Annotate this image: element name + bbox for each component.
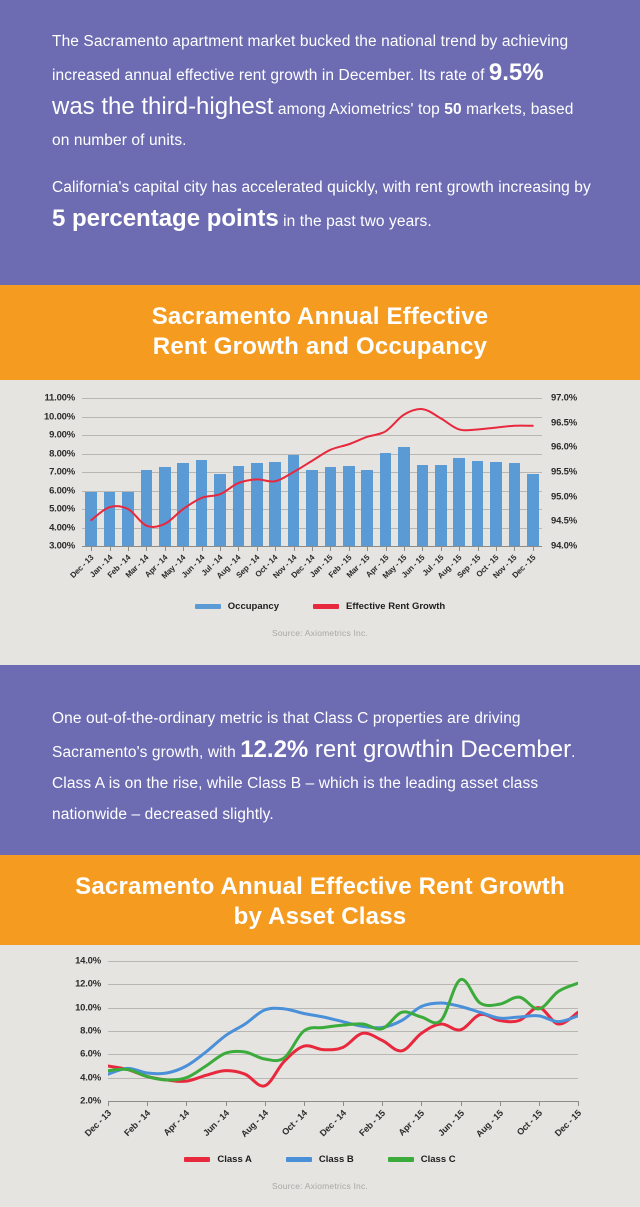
x-axis-tick: [220, 546, 221, 551]
x-axis-tick-label: Oct - 14: [280, 1108, 309, 1137]
x-axis-tick-label: Dec - 14: [318, 1108, 348, 1138]
intro-p2-part-b: in the past two years.: [279, 213, 432, 230]
x-axis-tick-label: Oct - 15: [515, 1108, 544, 1137]
intro-p1-part-b: was the third-highest: [52, 93, 273, 120]
x-axis-tick: [147, 1101, 148, 1106]
chart2-title-line1: Sacramento Annual Effective Rent Growth: [20, 872, 620, 902]
legend-swatch: [388, 1157, 414, 1162]
infographic-page: The Sacramento apartment market bucked t…: [0, 0, 640, 1207]
x-axis-tick: [265, 1101, 266, 1106]
chart2-plot-area: 2.0%4.0%6.0%8.0%10.0%12.0%14.0%: [108, 961, 578, 1101]
x-axis-tick: [441, 546, 442, 551]
chart1-header-banner: Sacramento Annual Effective Rent Growth …: [0, 285, 640, 380]
mid-part-b: rent growth: [308, 736, 435, 763]
y-axis-tick-label: 95.0%: [551, 491, 577, 502]
x-axis-tick: [226, 1101, 227, 1106]
y-axis-tick-label: 12.0%: [75, 979, 101, 990]
x-axis-tick: [202, 546, 203, 551]
legend-swatch: [184, 1157, 210, 1162]
x-axis-tick: [478, 546, 479, 551]
y-axis-tick-label: 94.0%: [551, 541, 577, 552]
x-axis-tick: [367, 546, 368, 551]
x-axis-tick-label: Jun - 14: [201, 1108, 231, 1138]
legend-swatch: [195, 604, 221, 609]
y-axis-tick-label: 8.00%: [49, 448, 75, 459]
y-axis-tick-label: 4.00%: [49, 522, 75, 533]
x-axis-tick-label: Aug - 15: [474, 1108, 505, 1139]
x-axis-tick-label: Apr - 14: [162, 1108, 192, 1138]
x-axis-tick-label: Feb - 15: [357, 1108, 387, 1138]
x-axis-tick: [183, 546, 184, 551]
chart2-legend: Class AClass BClass C: [0, 1154, 640, 1165]
x-axis-tick: [165, 546, 166, 551]
line-series-class-b: [108, 1003, 578, 1074]
legend-item: Occupancy: [195, 601, 279, 612]
mid-paragraph: One out-of-the-ordinary metric is that C…: [52, 703, 592, 830]
x-axis-tick-label: Apr - 15: [397, 1108, 427, 1138]
x-axis-tick: [421, 1101, 422, 1106]
chart2-panel: 2.0%4.0%6.0%8.0%10.0%12.0%14.0% Dec - 13…: [0, 945, 640, 1207]
x-axis-tick: [500, 1101, 501, 1106]
x-axis-tick: [404, 546, 405, 551]
x-axis-tick-label: Dec - 13: [83, 1108, 113, 1138]
mid-stat-class-c: 12.2%: [240, 736, 308, 763]
mid-text-block: One out-of-the-ordinary metric is that C…: [0, 665, 640, 855]
y-axis-tick-label: 9.00%: [49, 430, 75, 441]
legend-swatch: [286, 1157, 312, 1162]
chart1-source: Source: Axiometrics Inc.: [0, 628, 640, 638]
intro-stat-rent-growth: 9.5%: [489, 59, 544, 86]
y-axis-tick-label: 96.5%: [551, 417, 577, 428]
x-axis-tick-label: Feb - 14: [122, 1108, 152, 1138]
y-axis-tick-label: 95.5%: [551, 467, 577, 478]
y-axis-tick-label: 6.0%: [80, 1049, 101, 1060]
y-axis-tick-label: 2.0%: [80, 1096, 101, 1107]
x-axis-tick: [275, 546, 276, 551]
legend-label: Effective Rent Growth: [346, 601, 445, 612]
x-axis-tick: [386, 546, 387, 551]
x-axis-tick: [146, 546, 147, 551]
intro-p1-part-c: among Axiometrics' top: [273, 101, 444, 118]
intro-stat-markets: 50: [444, 101, 461, 118]
legend-label: Class C: [421, 1154, 456, 1165]
legend-label: Occupancy: [228, 601, 279, 612]
x-axis-tick-label: Aug - 14: [239, 1108, 270, 1139]
x-axis-tick: [257, 546, 258, 551]
y-axis-tick-label: 10.00%: [44, 411, 75, 422]
x-axis-tick: [533, 546, 534, 551]
x-axis-tick-label: Dec - 15: [553, 1108, 583, 1138]
chart1-panel: 3.00%4.00%5.00%6.00%7.00%8.00%9.00%10.00…: [0, 380, 640, 665]
y-axis-tick-label: 94.5%: [551, 516, 577, 527]
mid-part-c: in December: [435, 736, 571, 763]
legend-label: Class A: [217, 1154, 252, 1165]
x-axis-tick: [422, 546, 423, 551]
y-axis-tick-label: 7.00%: [49, 467, 75, 478]
y-axis-tick-label: 14.0%: [75, 956, 101, 967]
x-axis-tick: [128, 546, 129, 551]
line-series-class-c: [108, 979, 578, 1080]
chart2-x-axis: Dec - 13Feb - 14Apr - 14Jun - 14Aug - 14…: [108, 1101, 578, 1149]
x-axis-tick: [238, 546, 239, 551]
series-overlay: [108, 961, 578, 1101]
x-axis-tick: [349, 546, 350, 551]
legend-swatch: [313, 604, 339, 609]
legend-item: Effective Rent Growth: [313, 601, 445, 612]
x-axis-tick: [110, 546, 111, 551]
x-axis-tick: [294, 546, 295, 551]
x-axis-tick: [461, 1101, 462, 1106]
x-axis-tick: [459, 546, 460, 551]
legend-item: Class A: [184, 1154, 252, 1165]
chart1-title-line2: Rent Growth and Occupancy: [20, 332, 620, 362]
x-axis-tick: [186, 1101, 187, 1106]
chart1-plot-area: 3.00%4.00%5.00%6.00%7.00%8.00%9.00%10.00…: [82, 398, 542, 546]
legend-item: Class B: [286, 1154, 354, 1165]
intro-text-block: The Sacramento apartment market bucked t…: [0, 0, 640, 285]
intro-p2-part-a: California's capital city has accelerate…: [52, 179, 591, 196]
chart2-header-banner: Sacramento Annual Effective Rent Growth …: [0, 855, 640, 945]
y-axis-tick-label: 6.00%: [49, 485, 75, 496]
y-axis-tick-label: 8.0%: [80, 1026, 101, 1037]
x-axis-tick-label: Jun - 15: [436, 1108, 466, 1138]
chart1-legend: OccupancyEffective Rent Growth: [0, 601, 640, 612]
chart1-x-axis: Dec - 13Jan - 14Feb - 14Mar - 14Apr - 14…: [82, 546, 542, 596]
intro-paragraph-1: The Sacramento apartment market bucked t…: [52, 26, 592, 156]
intro-paragraph-2: California's capital city has accelerate…: [52, 172, 592, 237]
x-axis-tick: [578, 1101, 579, 1106]
y-axis-tick-label: 96.0%: [551, 442, 577, 453]
x-axis-tick: [382, 1101, 383, 1106]
legend-item: Class C: [388, 1154, 456, 1165]
y-axis-tick-label: 11.00%: [45, 393, 76, 404]
y-axis-tick-label: 5.00%: [49, 504, 75, 515]
y-axis-tick-label: 4.0%: [80, 1072, 101, 1083]
series-overlay: [82, 398, 542, 546]
legend-label: Class B: [319, 1154, 354, 1165]
x-axis-tick: [343, 1101, 344, 1106]
x-axis-tick: [539, 1101, 540, 1106]
x-axis-tick: [330, 546, 331, 551]
x-axis-tick: [514, 546, 515, 551]
intro-stat-percentage-points: 5 percentage points: [52, 205, 279, 232]
line-series-effective-rent-growth: [91, 409, 533, 527]
x-axis-tick: [91, 546, 92, 551]
chart1-title-line1: Sacramento Annual Effective: [20, 302, 620, 332]
y-axis-tick-label: 97.0%: [551, 393, 577, 404]
chart2-source: Source: Axiometrics Inc.: [0, 1181, 640, 1191]
x-axis-tick: [304, 1101, 305, 1106]
y-axis-tick-label: 3.00%: [49, 541, 75, 552]
x-axis-tick: [312, 546, 313, 551]
x-axis-tick: [496, 546, 497, 551]
y-axis-tick-label: 10.0%: [75, 1002, 101, 1013]
x-axis-tick: [108, 1101, 109, 1106]
chart2-title-line2: by Asset Class: [20, 902, 620, 932]
